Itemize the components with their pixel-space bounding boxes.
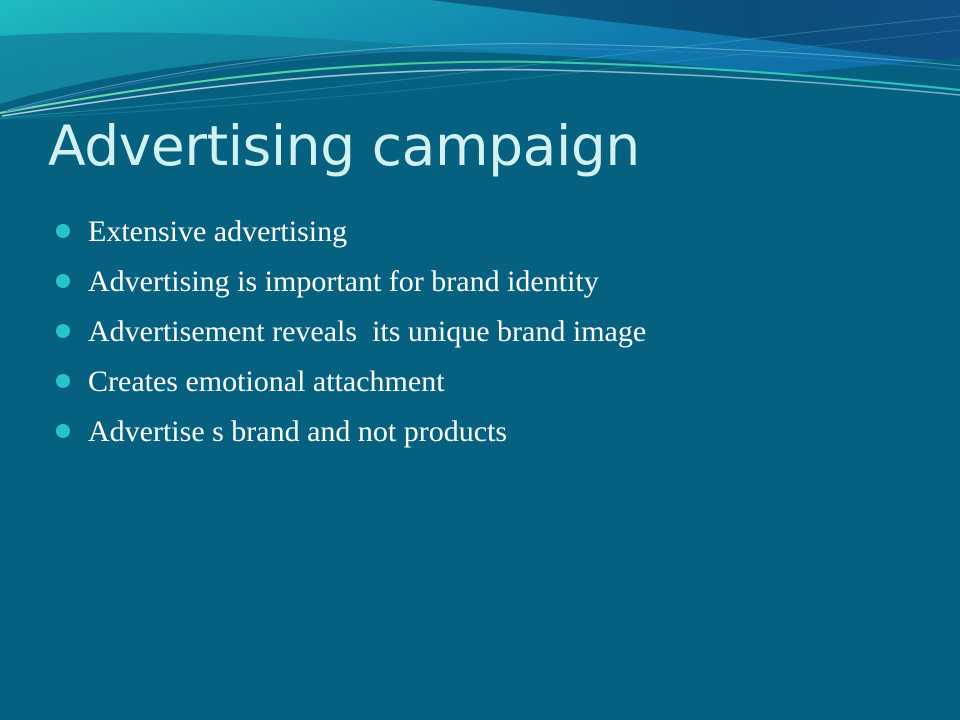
list-item-text: Creates emotional attachment xyxy=(88,365,445,398)
list-item: Advertisement reveals its unique brand i… xyxy=(48,306,908,356)
slide-title: Advertising campaign xyxy=(48,118,640,176)
bullet-dot-icon xyxy=(56,324,70,338)
bullet-list: Extensive advertising Advertising is imp… xyxy=(48,206,908,456)
bullet-dot-icon xyxy=(56,424,70,438)
list-item: Extensive advertising xyxy=(48,206,908,256)
list-item-text: Extensive advertising xyxy=(88,215,347,248)
list-item: Creates emotional attachment xyxy=(48,356,908,406)
header-wave-graphic xyxy=(0,0,960,120)
list-item: Advertising is important for brand ident… xyxy=(48,256,908,306)
list-item-text: Advertisement reveals its unique brand i… xyxy=(88,315,646,348)
list-item-text: Advertise s brand and not products xyxy=(88,415,507,448)
presentation-slide: Advertising campaign Extensive advertisi… xyxy=(0,0,960,720)
list-item: Advertise s brand and not products xyxy=(48,406,908,456)
bullet-dot-icon xyxy=(56,274,70,288)
bullet-dot-icon xyxy=(56,224,70,238)
bullet-dot-icon xyxy=(56,374,70,388)
list-item-text: Advertising is important for brand ident… xyxy=(88,265,599,298)
